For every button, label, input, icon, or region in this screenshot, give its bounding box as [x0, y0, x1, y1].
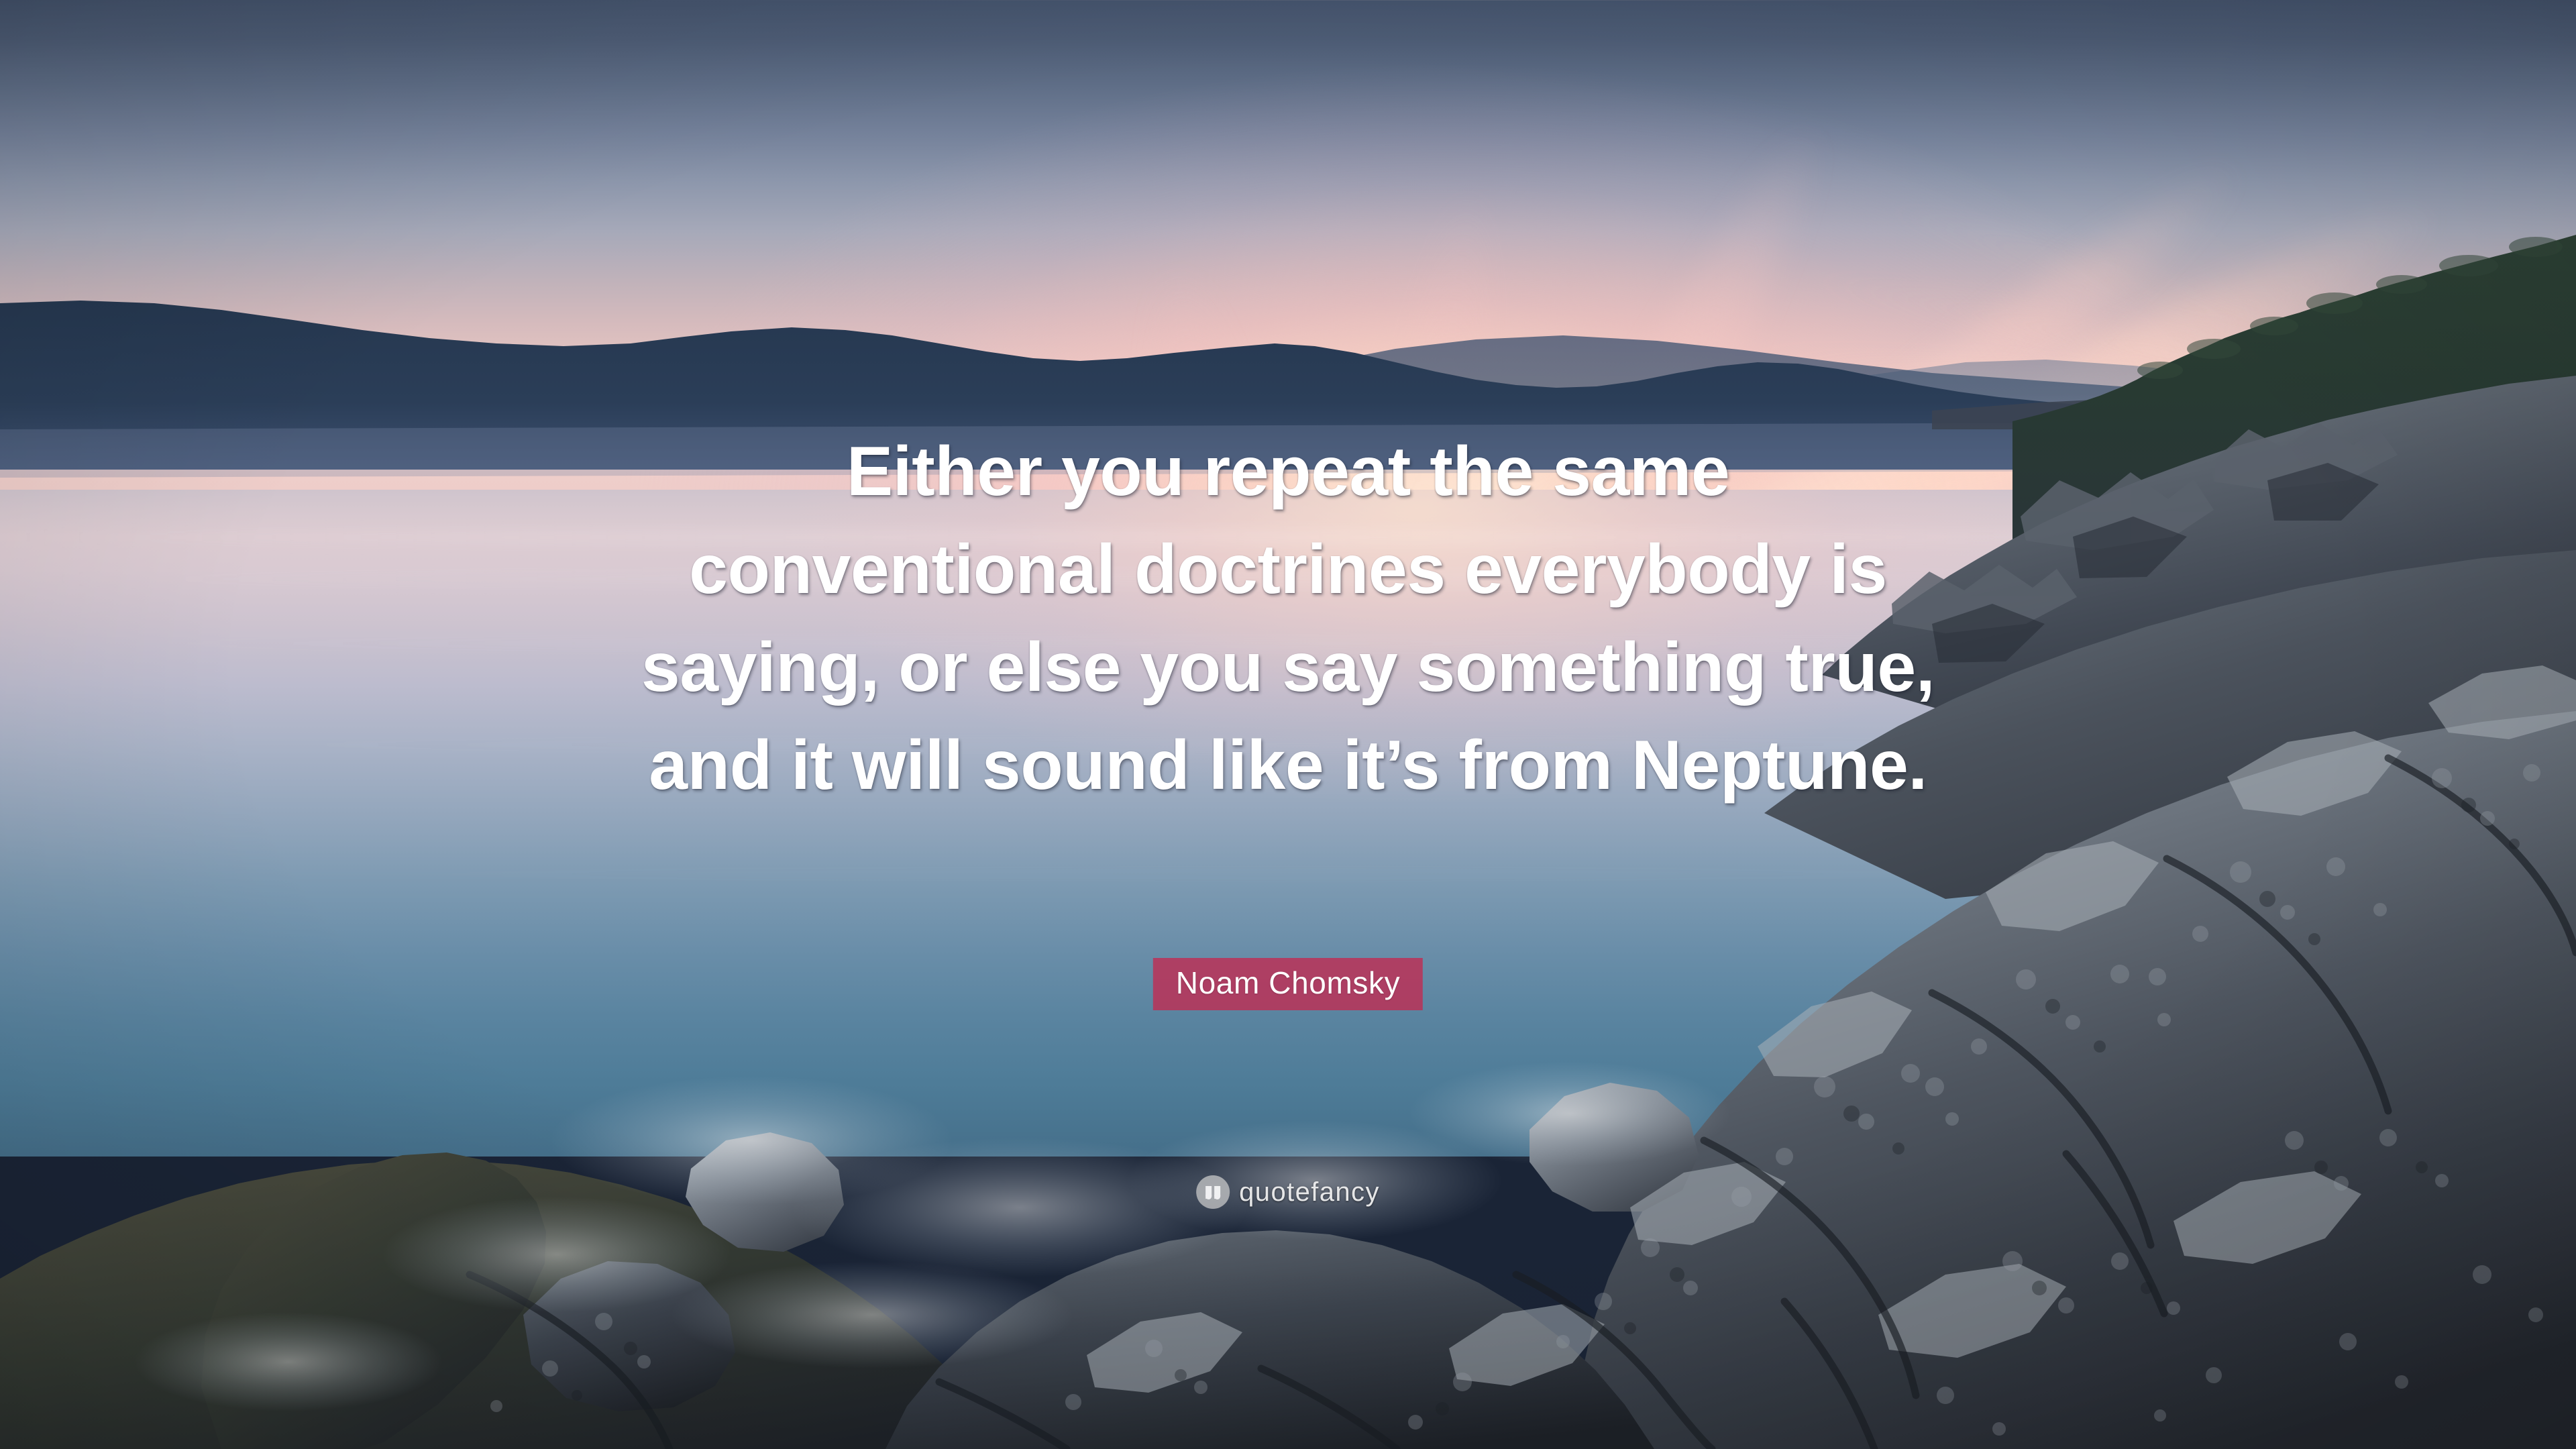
- surf-mist: [671, 1261, 1073, 1368]
- author-name-badge[interactable]: Noam Chomsky: [1153, 958, 1423, 1010]
- surf-mist: [1409, 1061, 1731, 1166]
- quotefancy-watermark[interactable]: quotefancy: [1196, 1175, 1380, 1209]
- surf-mist: [382, 1197, 731, 1312]
- quote-line-2: conventional doctrines everybody is: [590, 521, 1986, 619]
- quote-text-block: Either you repeat the same conventional …: [590, 423, 1986, 814]
- quote-line-4: and it will sound like it’s from Neptune…: [590, 716, 1986, 814]
- surf-mist: [134, 1312, 443, 1411]
- quote-poster: Either you repeat the same conventional …: [0, 0, 2576, 1449]
- quote-mark-icon: [1196, 1175, 1230, 1209]
- author-attribution: Noam Chomsky: [1153, 958, 1423, 1010]
- quote-line-3: saying, or else you say something true,: [590, 619, 1986, 716]
- quote-line-1: Either you repeat the same: [590, 423, 1986, 521]
- watermark-label: quotefancy: [1239, 1177, 1380, 1207]
